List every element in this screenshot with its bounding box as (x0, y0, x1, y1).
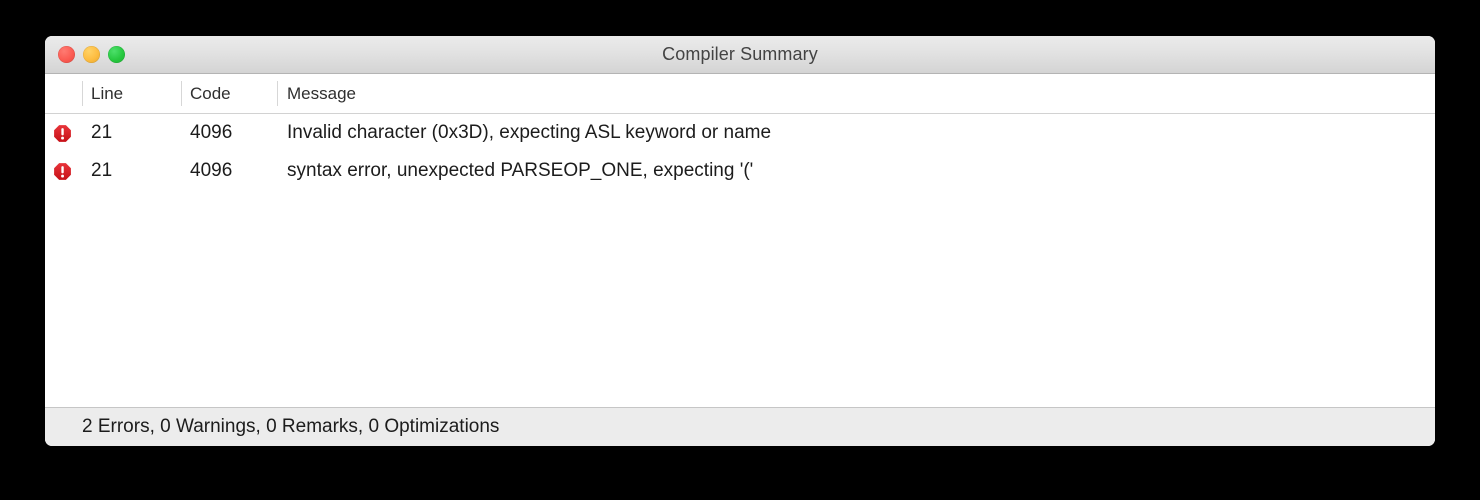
row-message-value: syntax error, unexpected PARSEOP_ONE, ex… (287, 152, 753, 190)
status-bar: 2 Errors, 0 Warnings, 0 Remarks, 0 Optim… (45, 407, 1435, 446)
table-row[interactable]: 21 4096 Invalid character (0x3D), expect… (45, 114, 1435, 152)
column-divider[interactable] (277, 81, 278, 106)
table-header: Line Code Message (45, 74, 1435, 114)
row-code-value: 4096 (190, 114, 232, 152)
row-code-value: 4096 (190, 152, 232, 190)
minimize-button[interactable] (83, 46, 100, 63)
compiler-summary-window: Compiler Summary Line Code Message (45, 36, 1435, 446)
maximize-button[interactable] (108, 46, 125, 63)
row-line-value: 21 (91, 114, 112, 152)
window-title: Compiler Summary (662, 36, 818, 73)
column-header-code[interactable]: Code (190, 74, 231, 113)
window-titlebar[interactable]: Compiler Summary (45, 36, 1435, 74)
column-header-line[interactable]: Line (91, 74, 123, 113)
column-header-message[interactable]: Message (287, 74, 356, 113)
error-icon (52, 161, 73, 182)
diagnostics-list[interactable]: 21 4096 Invalid character (0x3D), expect… (45, 114, 1435, 409)
window-controls (58, 36, 125, 73)
column-divider[interactable] (82, 81, 83, 106)
summary-text: 2 Errors, 0 Warnings, 0 Remarks, 0 Optim… (82, 416, 499, 438)
error-icon (52, 123, 73, 144)
row-line-value: 21 (91, 152, 112, 190)
column-divider[interactable] (181, 81, 182, 106)
row-message-value: Invalid character (0x3D), expecting ASL … (287, 114, 771, 152)
table-row[interactable]: 21 4096 syntax error, unexpected PARSEOP… (45, 152, 1435, 190)
close-button[interactable] (58, 46, 75, 63)
